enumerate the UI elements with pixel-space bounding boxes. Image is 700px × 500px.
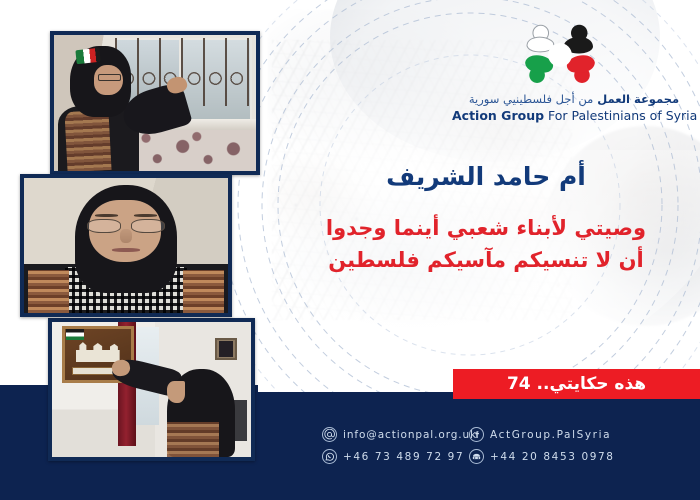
story-number-banner: هذه حكايتي.. 74: [453, 369, 700, 399]
photo-woman-portrait: [20, 174, 232, 317]
logo-english-text: Action Group For Palestinians of Syria: [452, 108, 696, 123]
story-banner-text: هذه حكايتي.. 74: [507, 374, 646, 394]
person-name: أم حامد الشريف: [286, 160, 686, 194]
action-group-circle-logo-icon: [514, 22, 606, 88]
contact-email[interactable]: info@actionpal.org.uk: [322, 427, 477, 442]
quote-line-2: أن لا تنسيكم مآسيكم فلسطين: [286, 244, 686, 277]
facebook-text: ActGroup.PalSyria: [490, 429, 611, 441]
email-text: info@actionpal.org.uk: [343, 429, 477, 441]
whatsapp-text: +46 73 489 72 97: [343, 451, 464, 463]
whatsapp-icon: [322, 449, 337, 464]
photo-woman-at-window: [50, 31, 260, 175]
headline-block: أم حامد الشريف وصيتي لأبناء شعبي أينما و…: [286, 160, 686, 277]
quote-line-1: وصيتي لأبناء شعبي أينما وجدوا: [286, 212, 686, 245]
organization-logo: مجموعة العمل من أجل فلسطينيي سورية Actio…: [452, 22, 696, 128]
palestinian-flag-pin-icon: [76, 47, 102, 63]
facebook-icon: [469, 427, 484, 442]
contact-whatsapp[interactable]: +46 73 489 72 97: [322, 449, 464, 464]
footer-contacts: info@actionpal.org.uk +46 73 489 72 97 A…: [322, 427, 692, 485]
telephone-icon: [469, 449, 484, 464]
phone-text: +44 20 8453 0978: [490, 451, 615, 463]
logo-arabic-text: مجموعة العمل من أجل فلسطينيي سورية: [452, 92, 696, 106]
contact-facebook[interactable]: ActGroup.PalSyria: [469, 427, 611, 442]
photo-woman-with-plaque: [48, 318, 255, 461]
poster-canvas: مجموعة العمل من أجل فلسطينيي سورية Actio…: [0, 0, 700, 500]
contact-phone[interactable]: +44 20 8453 0978: [469, 449, 615, 464]
at-sign-icon: [322, 427, 337, 442]
palestinian-flag-icon: [66, 329, 84, 340]
